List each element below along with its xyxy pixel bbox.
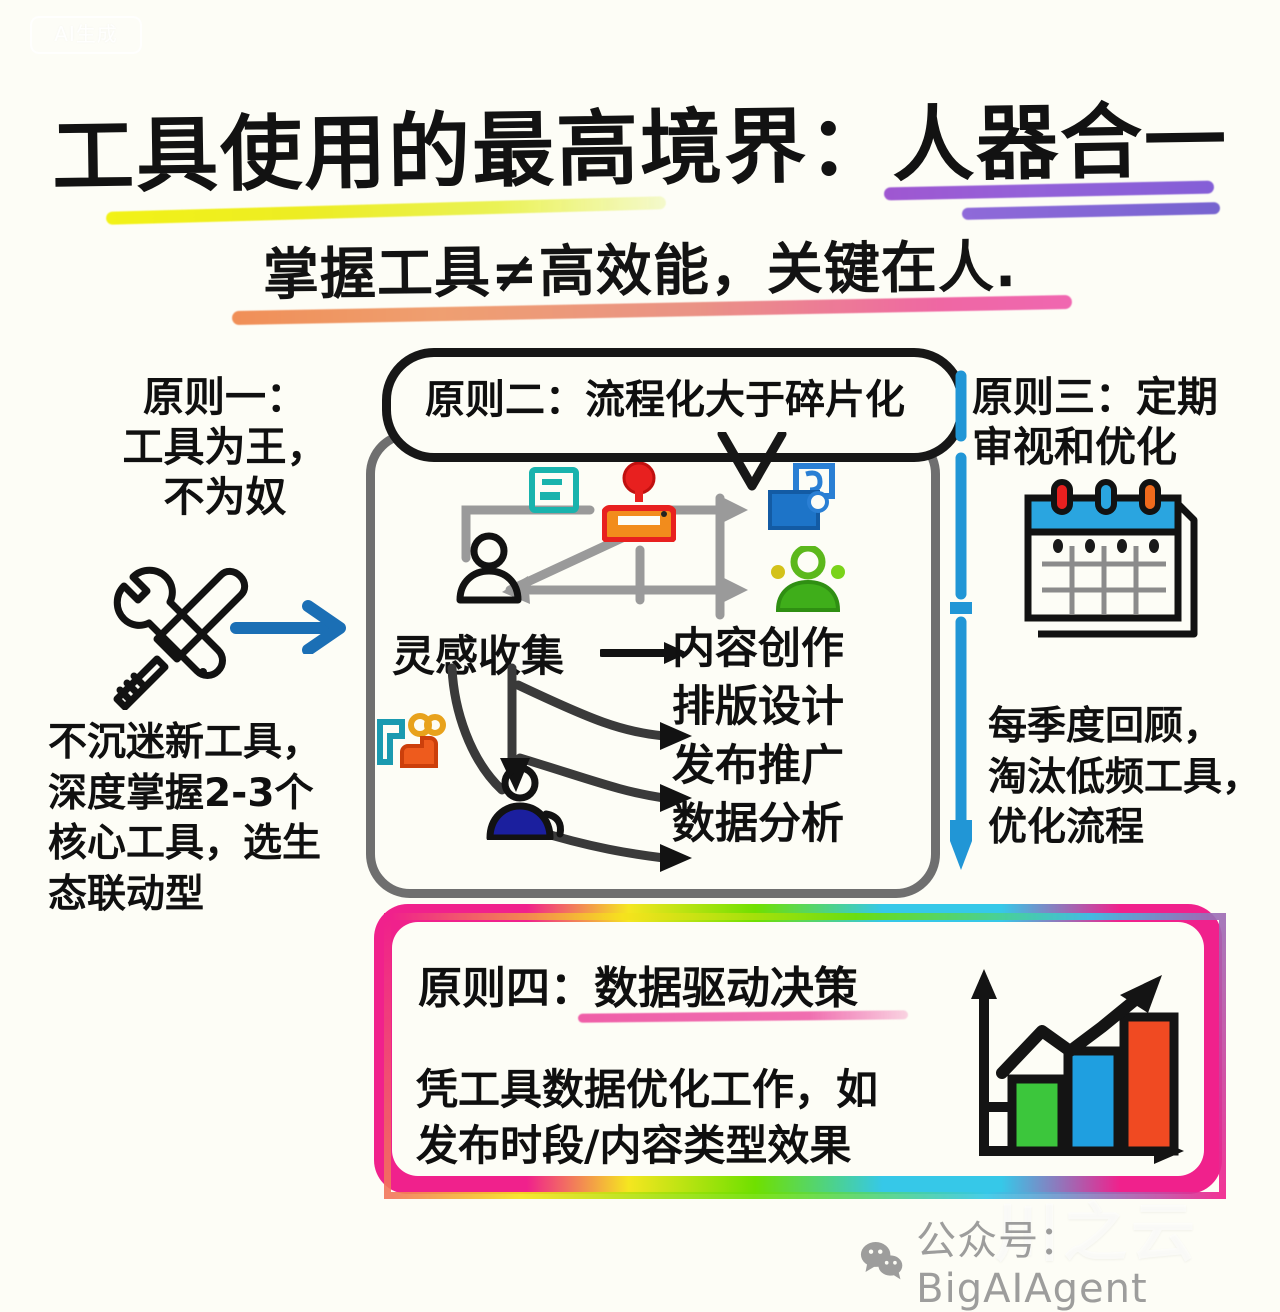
calendar-icon bbox=[1010, 468, 1200, 653]
principle-three-heading-line2: 审视和优化 bbox=[972, 422, 1272, 472]
principle-four-body-line2: 发布时段/内容类型效果 bbox=[416, 1118, 976, 1174]
person-red-icon bbox=[602, 462, 676, 542]
principle-one-heading-line3: 不为奴 bbox=[80, 472, 370, 522]
principle-one-heading-line2: 工具为王， bbox=[80, 422, 370, 472]
bar-chart-icon bbox=[950, 955, 1200, 1180]
presenter-icon bbox=[374, 712, 446, 774]
infographic-canvas: AI生成 工具使用的最高境界：人器合一 掌握工具≠高效能，关键在人. 原则一： … bbox=[0, 0, 1280, 1280]
wechat-watermark: 公众号：BigAIAgent bbox=[860, 1208, 1280, 1312]
principle-three-body: 每季度回顾， 淘汰低频工具， 优化流程 bbox=[988, 702, 1280, 854]
flowchart-icon bbox=[528, 466, 580, 514]
principle-one-body: 不沉迷新工具，深度掌握2-3个核心工具，选生态联动型 bbox=[48, 718, 348, 921]
principle-four-body-line1: 凭工具数据优化工作，如 bbox=[416, 1062, 976, 1118]
workflow-branch-arrows bbox=[392, 640, 892, 880]
principle-four-body: 凭工具数据优化工作，如 发布时段/内容类型效果 bbox=[416, 1062, 976, 1175]
ai-generated-badge: AI生成 bbox=[30, 16, 142, 54]
person-blue-icon bbox=[484, 766, 566, 840]
person-outline-icon bbox=[452, 532, 526, 604]
highlight-stroke-purple-lower bbox=[962, 202, 1220, 220]
principle-three-body-line3: 优化流程 bbox=[988, 803, 1280, 854]
team-green-icon bbox=[770, 546, 846, 612]
principle-three-heading: 原则三：定期 审视和优化 bbox=[972, 372, 1272, 472]
principle-one-heading: 原则一： 工具为王， 不为奴 bbox=[80, 372, 370, 522]
page-subtitle: 掌握工具≠高效能，关键在人. bbox=[0, 219, 1280, 313]
wechat-icon bbox=[860, 1239, 904, 1281]
principle-three-body-line1: 每季度回顾， bbox=[988, 702, 1280, 753]
blue-arrow-right-icon bbox=[230, 598, 360, 654]
wechat-watermark-text: 公众号：BigAIAgent bbox=[916, 1208, 1280, 1312]
principle-one-heading-line1: 原则一： bbox=[80, 372, 370, 422]
principle-three-body-line2: 淘汰低频工具， bbox=[988, 753, 1280, 804]
principle-three-heading-line1: 原则三：定期 bbox=[972, 372, 1272, 422]
blue-dashed-divider-icon bbox=[950, 370, 972, 890]
principle-four-heading: 原则四：数据驱动决策 bbox=[418, 952, 858, 1016]
printer-blue-icon bbox=[766, 462, 838, 536]
principle-two-heading: 原则二：流程化大于碎片化 bbox=[382, 348, 948, 444]
